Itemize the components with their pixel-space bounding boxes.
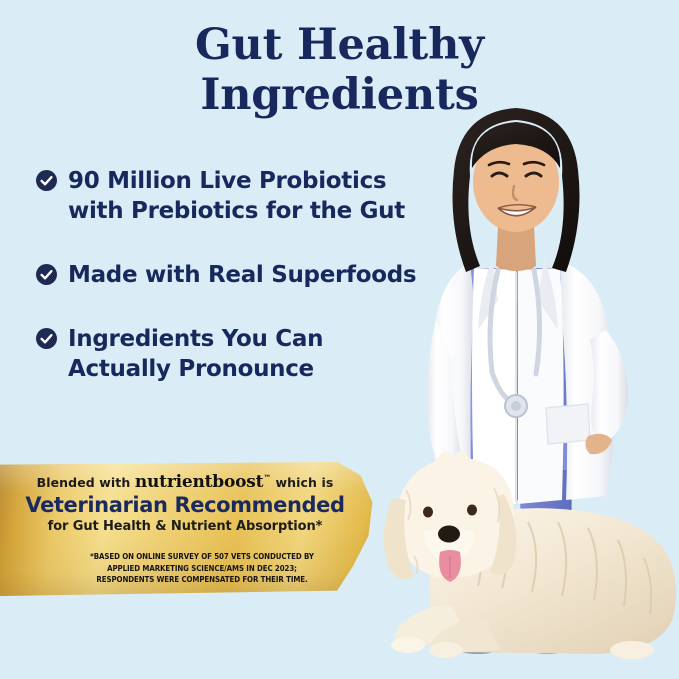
list-item-line-2: Actually Pronounce	[68, 356, 314, 382]
banner-line-1-suffix: which is	[276, 475, 334, 490]
list-item-text: 90 Million Live Probiotics with Prebioti…	[68, 166, 405, 226]
list-item-text: Ingredients You Can Actually Pronounce	[68, 324, 323, 384]
list-item: Ingredients You Can Actually Pronounce	[36, 324, 456, 384]
list-item-line-1: Made with Real Superfoods	[68, 262, 416, 288]
check-circle-icon	[36, 328, 57, 349]
check-circle-icon	[36, 170, 57, 191]
page-title-line-2: Ingredients	[0, 70, 679, 120]
goldendoodle-dog-photo	[384, 450, 676, 659]
page-title-line-1: Gut Healthy	[0, 20, 679, 70]
list-item: Made with Real Superfoods	[36, 260, 456, 290]
banner-line-1-prefix: Blended with	[37, 475, 131, 490]
list-item-line-1: Ingredients You Can	[68, 326, 323, 352]
vet-recommended-banner: Blended with nutrientboost™ which is Vet…	[0, 462, 392, 596]
promo-graphic: Gut Healthy Ingredients 90 Million Live …	[0, 0, 679, 679]
list-item-line-1: 90 Million Live Probiotics	[68, 168, 386, 194]
banner-line-1: Blended with nutrientboost™ which is	[0, 472, 392, 492]
check-circle-icon	[36, 264, 57, 285]
benefit-list: 90 Million Live Probiotics with Prebioti…	[36, 166, 456, 418]
veterinarian-photo	[427, 108, 628, 654]
list-item: 90 Million Live Probiotics with Prebioti…	[36, 166, 456, 226]
banner-disclaimer: *BASED ON ONLINE SURVEY OF 507 VETS COND…	[27, 551, 364, 586]
page-title: Gut Healthy Ingredients	[0, 20, 679, 120]
banner-headline: Veterinarian Recommended	[0, 493, 392, 517]
nutrientboost-text: nutrientboost	[135, 472, 263, 492]
banner-content: Blended with nutrientboost™ which is Vet…	[0, 462, 392, 596]
nutrientboost-wordmark: nutrientboost™	[135, 472, 271, 492]
list-item-text: Made with Real Superfoods	[68, 260, 416, 290]
list-item-line-2: with Prebiotics for the Gut	[68, 198, 405, 224]
trademark-symbol: ™	[263, 473, 271, 482]
banner-subline: for Gut Health & Nutrient Absorption*	[0, 519, 392, 534]
